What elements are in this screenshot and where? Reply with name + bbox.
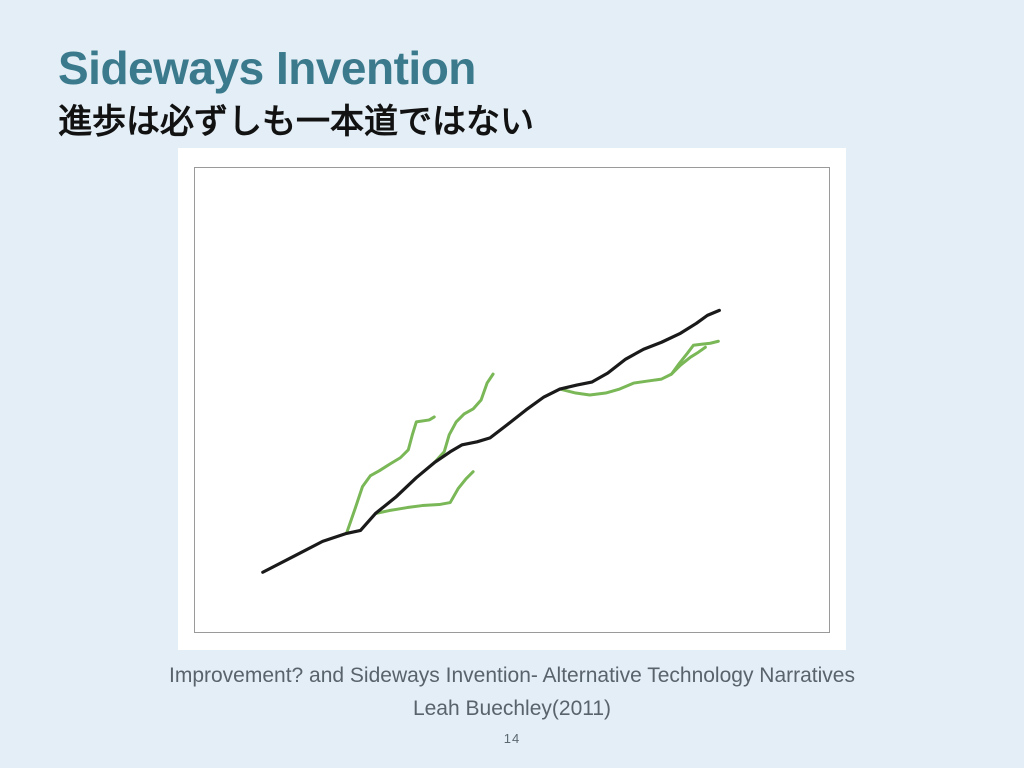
figure-caption-line-1: Improvement? and Sideways Invention- Alt… [0,660,1024,693]
page-title: Sideways Invention [58,44,476,92]
page-number: 14 [0,731,1024,746]
sideways-invention-diagram [195,168,829,632]
figure-frame [178,148,846,650]
figure-caption-line-2: Leah Buechley(2011) [0,697,1024,721]
figure-plot-area [194,167,830,633]
main-progress-line [263,310,720,572]
slide: Sideways Invention 進歩は必ずしも一本道ではない Improv… [0,0,1024,768]
page-subtitle: 進歩は必ずしも一本道ではない [58,104,534,141]
branch-lines [347,341,719,533]
